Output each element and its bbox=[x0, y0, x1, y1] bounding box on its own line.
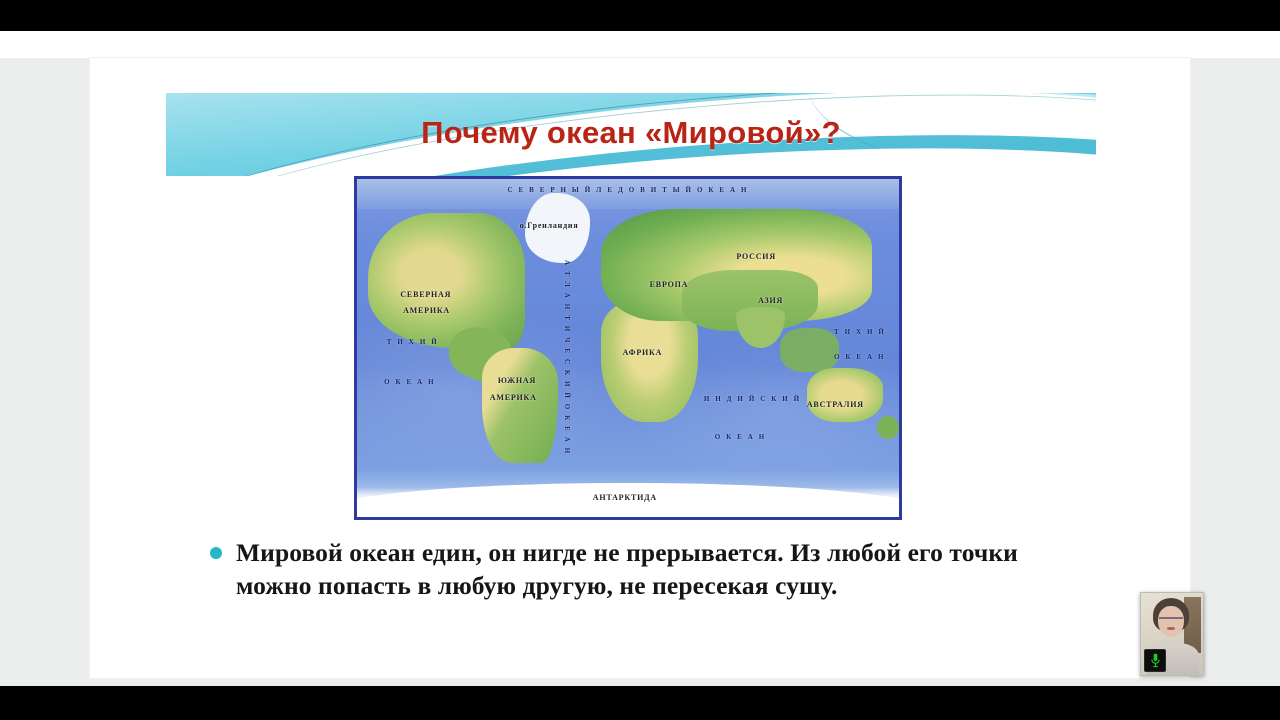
webcam-person-mouth bbox=[1167, 627, 1175, 630]
letterbox-top-bar bbox=[0, 0, 1280, 31]
map-label-north-america-line2: АМЕРИКА bbox=[403, 307, 450, 315]
map-label-australia: АВСТРАЛИЯ bbox=[807, 400, 864, 409]
map-label-asia: АЗИЯ bbox=[758, 296, 783, 305]
map-label-europe: ЕВРОПА bbox=[650, 280, 689, 289]
landmass-southeast-asia bbox=[780, 328, 840, 372]
landmass-australia bbox=[807, 368, 883, 422]
slide-bullet: Мировой океан един, он нигде не прерывае… bbox=[210, 536, 1070, 602]
map-label-indian-line1: И Н Д И Й С К И Й bbox=[704, 395, 801, 403]
microphone-icon[interactable] bbox=[1144, 649, 1166, 672]
presentation-slide: Почему океан «Мировой»? С Е В Е Р Н Ы Й … bbox=[90, 58, 1190, 678]
webcam-thumbnail[interactable] bbox=[1140, 592, 1204, 676]
map-label-south-america-line1: ЮЖНАЯ bbox=[498, 377, 536, 385]
map-label-pacific-west-line2: О К Е А Н bbox=[384, 378, 436, 386]
world-map: С Е В Е Р Н Ы Й Л Е Д О В И Т Ы Й О К Е … bbox=[354, 176, 902, 520]
map-label-antarctica: АНТАРКТИДА bbox=[593, 493, 657, 502]
map-label-north-america-line1: СЕВЕРНАЯ bbox=[400, 291, 451, 299]
landmass-south-america bbox=[482, 348, 558, 463]
bullet-dot-icon bbox=[210, 547, 222, 559]
slide-banner: Почему океан «Мировой»? bbox=[166, 93, 1096, 176]
map-label-greenland: о.Гренландия bbox=[520, 221, 579, 230]
landmass-new-zealand bbox=[877, 416, 899, 440]
map-label-south-america-line2: АМЕРИКА bbox=[490, 394, 537, 402]
landmass-north-america bbox=[368, 213, 525, 348]
letterbox-bottom-bar bbox=[0, 686, 1280, 720]
player-white-strip bbox=[0, 31, 1280, 58]
world-map-canvas: С Е В Е Р Н Ы Й Л Е Д О В И Т Ы Й О К Е … bbox=[357, 179, 899, 517]
map-label-pacific-east-line2: О К Е А Н bbox=[834, 353, 886, 361]
map-label-indian-line2: О К Е А Н bbox=[715, 433, 767, 441]
map-label-atlantic-ocean: А Т Л А Н Т И Ч Е С К И Й О К Е А Н bbox=[563, 260, 571, 455]
map-label-africa: АФРИКА bbox=[623, 348, 663, 357]
bullet-text: Мировой океан един, он нигде не прерывае… bbox=[236, 536, 1070, 602]
map-label-russia: РОССИЯ bbox=[736, 252, 776, 261]
map-label-arctic-ocean: С Е В Е Р Н Ы Й Л Е Д О В И Т Ы Й О К Е … bbox=[507, 186, 748, 194]
map-label-pacific-west-line1: Т И Х И Й bbox=[387, 338, 439, 346]
landmass-india bbox=[736, 307, 785, 348]
screen: Почему океан «Мировой»? С Е В Е Р Н Ы Й … bbox=[0, 0, 1280, 720]
map-label-pacific-east-line1: Т И Х И Й bbox=[834, 328, 886, 336]
webcam-person-glasses bbox=[1159, 617, 1183, 625]
slide-title: Почему океан «Мировой»? bbox=[166, 115, 1096, 151]
